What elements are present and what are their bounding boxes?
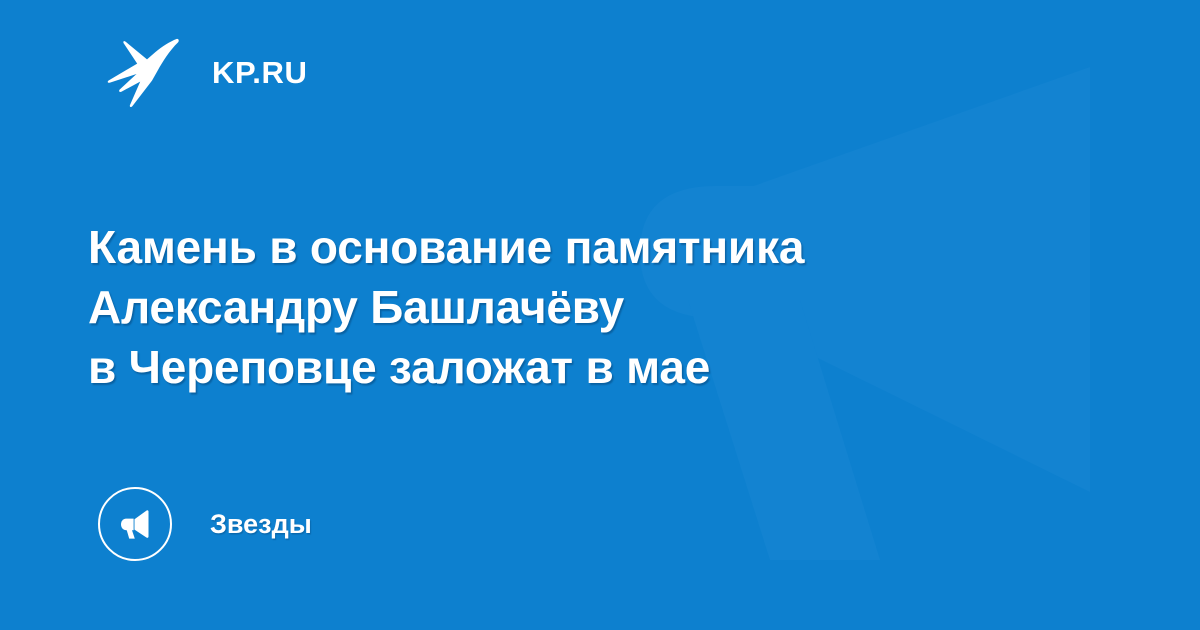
site-wordmark[interactable]: KP.RU	[212, 57, 307, 88]
headline-line-3: в Череповце заложат в мае	[88, 337, 1098, 397]
headline-line-2: Александру Башлачёву	[88, 277, 1098, 337]
headline-line-1: Камень в основание памятника	[88, 217, 1098, 277]
swallow-bird-logo-icon[interactable]	[106, 37, 180, 107]
category-label: Звезды	[210, 511, 312, 538]
megaphone-icon	[115, 504, 155, 544]
headline: Камень в основание памятника Александру …	[88, 217, 1098, 398]
site-header: KP.RU	[106, 36, 307, 108]
social-share-card: KP.RU Камень в основание памятника Алекс…	[0, 0, 1200, 630]
category-icon-circle	[98, 487, 172, 561]
category-badge[interactable]: Звезды	[98, 487, 312, 561]
